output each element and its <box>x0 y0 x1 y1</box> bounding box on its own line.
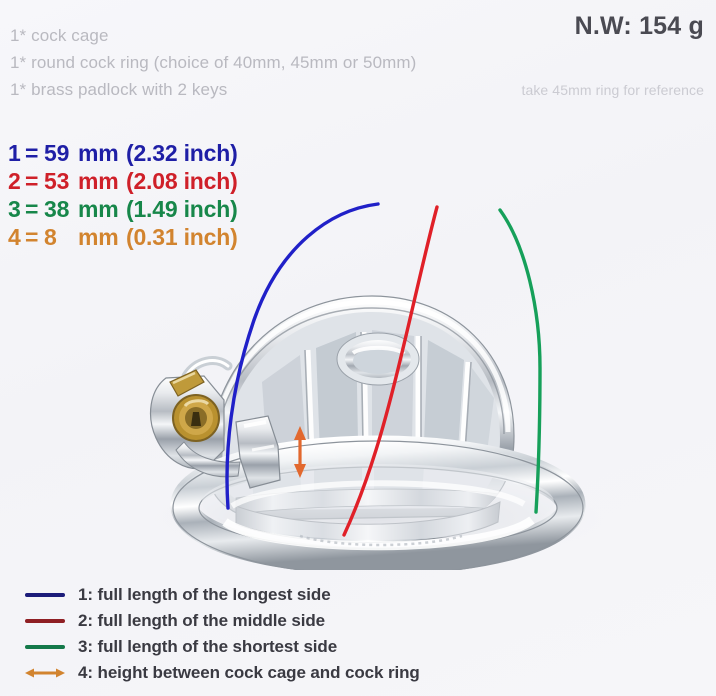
legend-label-3: 3: full length of the shortest side <box>78 637 337 657</box>
legend-label-4: 4: height between cock cage and cock rin… <box>78 663 420 683</box>
spec-line-3: 1* brass padlock with 2 keys <box>10 76 416 103</box>
legend-row-4: 4: height between cock cage and cock rin… <box>22 660 420 686</box>
product-photo <box>0 150 716 570</box>
legend-line-green-icon <box>22 640 68 654</box>
legend-label-2: 2: full length of the middle side <box>78 611 325 631</box>
product-spec-image: 1* cock cage 1* round cock ring (choice … <box>0 0 716 696</box>
legend: 1: full length of the longest side 2: fu… <box>22 582 420 686</box>
legend-row-3: 3: full length of the shortest side <box>22 634 420 660</box>
legend-double-arrow-orange-icon <box>22 666 68 680</box>
legend-row-2: 2: full length of the middle side <box>22 608 420 634</box>
spec-line-2: 1* round cock ring (choice of 40mm, 45mm… <box>10 49 416 76</box>
spec-line-1: 1* cock cage <box>10 22 416 49</box>
reference-note: take 45mm ring for reference <box>521 82 704 98</box>
spec-list: 1* cock cage 1* round cock ring (choice … <box>10 22 416 103</box>
legend-row-1: 1: full length of the longest side <box>22 582 420 608</box>
legend-line-navy-icon <box>22 588 68 602</box>
legend-label-1: 1: full length of the longest side <box>78 585 331 605</box>
net-weight-label: N.W: 154 g <box>575 12 704 41</box>
legend-line-darkred-icon <box>22 614 68 628</box>
cock-ring <box>173 441 583 570</box>
